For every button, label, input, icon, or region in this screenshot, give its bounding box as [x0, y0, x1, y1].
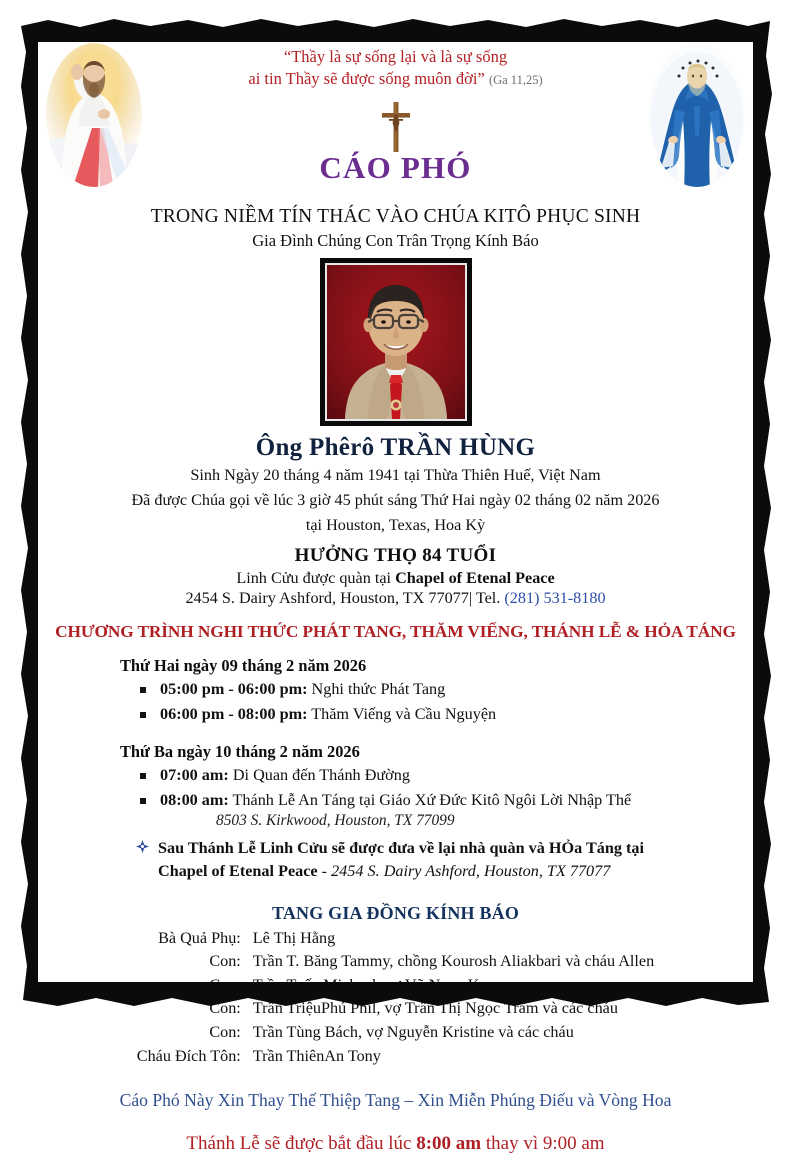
deceased-name: Ông Phêrô TRẦN HÙNG: [34, 434, 757, 462]
death-line: Đã được Chúa gọi về lúc 3 giờ 45 phút sá…: [34, 489, 757, 512]
list-item: Cháu Đích Tôn: Trần ThiênAn Tony: [137, 1045, 654, 1069]
death-place-line: tại Houston, Texas, Hoa Kỳ: [34, 514, 757, 537]
chapel-address: 2454 S. Dairy Ashford, Houston, TX 77077…: [185, 589, 504, 607]
family-name: Trần TriệuPhú Phil, vợ Trần Thị Ngọc Trâ…: [253, 997, 654, 1021]
square-bullet-icon: [140, 773, 146, 779]
chapel-phone[interactable]: (281) 531-8180: [504, 589, 605, 607]
day2-item-1-desc: Di Quan đến Thánh Đường: [233, 766, 410, 784]
list-item: Con: Trần Tuấn Michael, vợ Vũ Ngọc Karen: [137, 974, 654, 998]
crucifix-icon: [379, 100, 413, 152]
cremation-venue-name: Chapel of Etenal Peace: [158, 862, 318, 880]
quote-citation: (Ga 11,25): [489, 73, 543, 87]
header: “Thầy là sự sống lại và là sự sống ai ti…: [34, 32, 757, 204]
cremation-line-1: Sau Thánh Lễ Linh Cửu sẽ được đưa về lại…: [158, 837, 757, 860]
family-name: Lê Thị Hằng: [253, 927, 654, 951]
notice2-time: 8:00 am: [416, 1133, 481, 1154]
chapel-line: Linh Cửu được quàn tại Chapel of Etenal …: [34, 569, 757, 588]
page-title: CÁO PHÓ: [34, 150, 757, 186]
family-role: Con:: [137, 997, 253, 1021]
day1-item-1-desc: Nghi thức Phát Tang: [312, 680, 446, 698]
quote-line-1: “Thầy là sự sống lại và là sự sống: [174, 46, 617, 68]
age-line: HƯỞNG THỌ 84 TUỔI: [34, 545, 757, 567]
portrait-image: [325, 263, 467, 421]
notice2-suffix: thay vì 9:00 am: [481, 1133, 604, 1154]
family-role: Bà Quả Phụ:: [137, 927, 253, 951]
day1-item-2-time: 06:00 pm - 08:00 pm:: [160, 705, 307, 723]
day1-item-2-desc: Thăm Viếng và Cầu Nguyện: [311, 705, 496, 723]
portrait-photo: [320, 258, 472, 426]
cremation-note: Sau Thánh Lễ Linh Cửu sẽ được đưa về lại…: [138, 837, 757, 882]
family-list: Bà Quả Phụ: Lê Thị Hằng Con: Trần T. Băn…: [137, 927, 654, 1068]
chapel-address-line: 2454 S. Dairy Ashford, Houston, TX 77077…: [34, 589, 757, 608]
header-subtitle-1: TRONG NIỀM TÍN THÁC VÀO CHÚA KITÔ PHỤC S…: [34, 206, 757, 228]
family-name: Trần Tùng Bách, vợ Nguyễn Kristine và cá…: [253, 1021, 654, 1045]
day2-item-2-desc: Thánh Lễ An Táng tại Giáo Xứ Đức Kitô Ng…: [233, 791, 632, 809]
day2-venue-address: 8503 S. Kirkwood, Houston, TX 77099: [216, 812, 757, 830]
day1-item-1-time: 05:00 pm - 06:00 pm:: [160, 680, 307, 698]
day2-heading: Thứ Ba ngày 10 tháng 2 năm 2026: [120, 742, 757, 762]
family-name: Trần T. Băng Tammy, chồng Kourosh Aliakb…: [253, 950, 654, 974]
quote-line-2: ai tin Thầy sẽ được sống muôn đời” (Ga 1…: [174, 68, 617, 90]
quote-line-2-text: ai tin Thầy sẽ được sống muôn đời”: [248, 69, 484, 88]
family-name: Trần Tuấn Michael, vợ Vũ Ngọc Karen: [253, 974, 654, 998]
cremation-line-2: Chapel of Etenal Peace - 2454 S. Dairy A…: [158, 860, 757, 883]
day2-item-1: 07:00 am: Di Quan đến Thánh Đường: [160, 765, 757, 787]
schedule-spacer: [120, 726, 757, 742]
family-title: TANG GIA ĐỒNG KÍNH BÁO: [34, 903, 757, 924]
program-title: CHƯƠNG TRÌNH NGHI THỨC PHÁT TANG, THĂM V…: [34, 622, 757, 642]
list-item: Bà Quả Phụ: Lê Thị Hằng: [137, 927, 654, 951]
family-role: Con:: [137, 1021, 253, 1045]
day2-item-2-time: 08:00 am:: [160, 791, 229, 809]
header-subtitle-2: Gia Đình Chúng Con Trân Trọng Kính Báo: [34, 231, 757, 251]
notice2-prefix: Thánh Lễ sẽ được bắt đầu lúc: [186, 1133, 416, 1154]
family-role: Con:: [137, 974, 253, 998]
day1-item-2: 06:00 pm - 08:00 pm: Thăm Viếng và Cầu N…: [160, 704, 757, 726]
family-role: Con:: [137, 950, 253, 974]
birth-line: Sinh Ngày 20 tháng 4 năm 1941 tại Thừa T…: [34, 464, 757, 487]
day2-item-1-time: 07:00 am:: [160, 766, 229, 784]
square-bullet-icon: [140, 712, 146, 718]
portrait-frame: [320, 258, 472, 426]
chapel-name: Chapel of Etenal Peace: [395, 569, 555, 587]
family-role: Cháu Đích Tôn:: [137, 1045, 253, 1069]
day2-item-2: 08:00 am: Thánh Lễ An Táng tại Giáo Xứ Đ…: [160, 790, 757, 812]
day1-item-1: 05:00 pm - 06:00 pm: Nghi thức Phát Tang: [160, 679, 757, 701]
notice-mass-time-change: Thánh Lễ sẽ được bắt đầu lúc 8:00 am tha…: [34, 1133, 757, 1155]
schedule: Thứ Hai ngày 09 tháng 2 năm 2026 05:00 p…: [120, 656, 757, 883]
list-item: Con: Trần TriệuPhú Phil, vợ Trần Thị Ngọ…: [137, 997, 654, 1021]
cremation-venue-address: - 2454 S. Dairy Ashford, Houston, TX 770…: [318, 862, 611, 880]
family-name: Trần ThiênAn Tony: [253, 1045, 654, 1069]
notice-no-flowers: Cáo Phó Này Xin Thay Thế Thiệp Tang – Xi…: [34, 1090, 757, 1111]
scripture-quote: “Thầy là sự sống lại và là sự sống ai ti…: [174, 46, 617, 90]
day1-heading: Thứ Hai ngày 09 tháng 2 năm 2026: [120, 656, 757, 676]
list-item: Con: Trần T. Băng Tammy, chồng Kourosh A…: [137, 950, 654, 974]
list-item: Con: Trần Tùng Bách, vợ Nguyễn Kristine …: [137, 1021, 654, 1045]
chapel-prefix: Linh Cửu được quàn tại: [236, 569, 395, 587]
obituary-page: “Thầy là sự sống lại và là sự sống ai ti…: [0, 0, 791, 1024]
diamond-bullet-icon: [136, 840, 149, 853]
square-bullet-icon: [140, 687, 146, 693]
square-bullet-icon: [140, 798, 146, 804]
